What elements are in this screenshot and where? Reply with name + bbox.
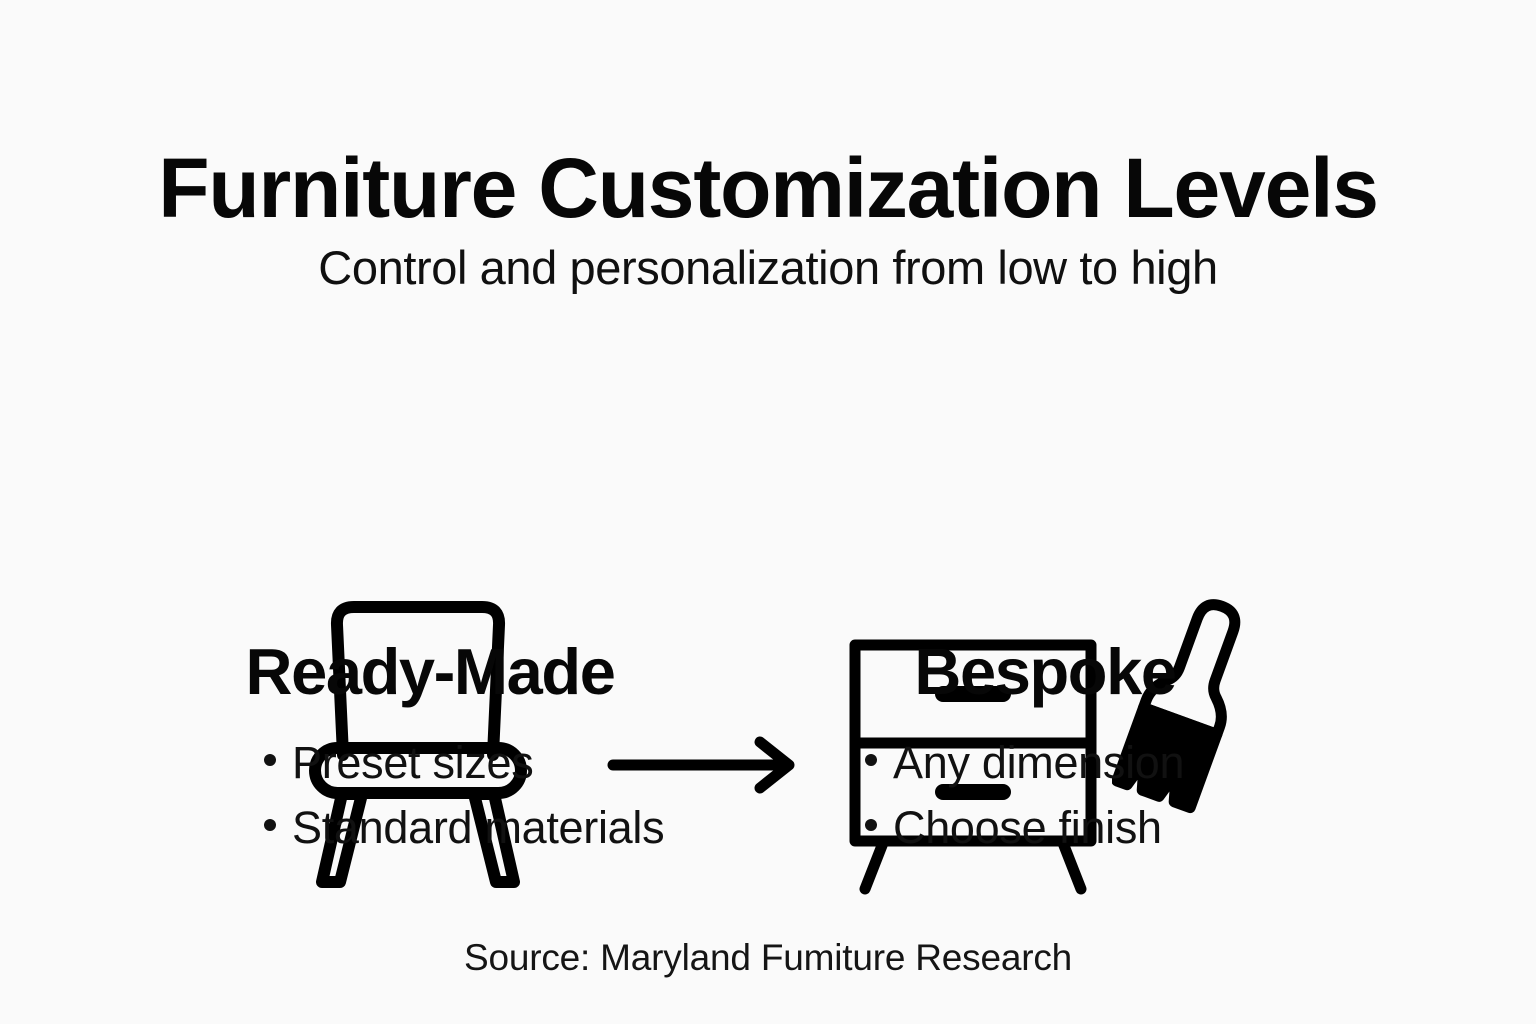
bullet-list-ready-made: Preset sizes Standard materials xyxy=(170,730,690,860)
list-item-label: Any dimension xyxy=(893,730,1184,795)
bullet-dot-icon xyxy=(865,754,877,766)
bullet-list-bespoke: Any dimension Choose finish xyxy=(845,730,1245,860)
list-item: Any dimension xyxy=(865,730,1245,795)
infographic-canvas: Furniture Customization Levels Control a… xyxy=(0,0,1536,1024)
stage-heading-bespoke: Bespoke xyxy=(845,636,1245,708)
list-item-label: Preset sizes xyxy=(292,730,533,795)
page-title: Furniture Customization Levels xyxy=(0,142,1536,234)
list-item-label: Standard materials xyxy=(292,795,664,860)
list-item: Standard materials xyxy=(264,795,690,860)
bullet-dot-icon xyxy=(865,819,877,831)
stage-bespoke: Bespoke Any dimension Choose finish xyxy=(845,636,1245,860)
icon-row xyxy=(0,288,1536,618)
list-item: Choose finish xyxy=(865,795,1245,860)
list-item: Preset sizes xyxy=(264,730,690,795)
stage-heading-ready-made: Ready-Made xyxy=(170,636,690,708)
list-item-label: Choose finish xyxy=(893,795,1162,860)
stage-ready-made: Ready-Made Preset sizes Standard materia… xyxy=(170,636,690,860)
source-attribution: Source: Maryland Fumiture Research xyxy=(0,935,1536,981)
bullet-dot-icon xyxy=(264,819,276,831)
bullet-dot-icon xyxy=(264,754,276,766)
